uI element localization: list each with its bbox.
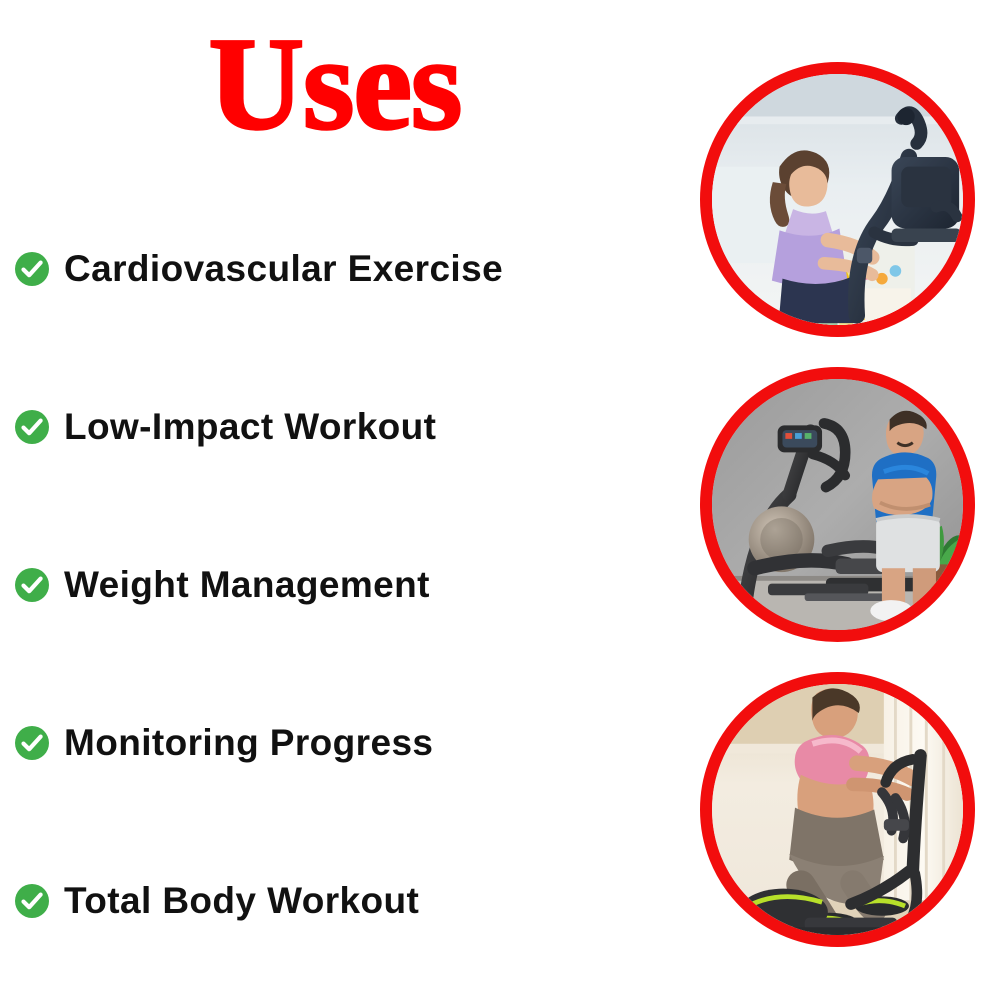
list-item-label: Low-Impact Workout xyxy=(64,407,436,448)
list-item: Low-Impact Workout xyxy=(0,348,660,506)
photo-image xyxy=(712,74,963,325)
check-circle-icon xyxy=(14,725,50,761)
check-circle-icon xyxy=(14,251,50,287)
list-item-label: Cardiovascular Exercise xyxy=(64,249,503,290)
list-item: Cardiovascular Exercise xyxy=(0,190,660,348)
check-circle-icon xyxy=(14,409,50,445)
check-circle-icon xyxy=(14,567,50,603)
uses-infographic-poster: Uses Cardiovascular Exercise Low-Impact … xyxy=(0,0,1000,1000)
list-item: Weight Management xyxy=(0,506,660,664)
list-item: Monitoring Progress xyxy=(0,664,660,822)
list-item-label: Weight Management xyxy=(64,565,430,606)
check-circle-icon xyxy=(14,883,50,919)
photo-woman-pink-bra-elliptical xyxy=(700,672,975,947)
list-item: Total Body Workout xyxy=(0,822,660,980)
list-item-label: Total Body Workout xyxy=(64,881,419,922)
photo-man-blue-tank-elliptical xyxy=(700,367,975,642)
uses-list: Cardiovascular Exercise Low-Impact Worko… xyxy=(0,190,660,980)
photo-image xyxy=(712,684,963,935)
list-item-label: Monitoring Progress xyxy=(64,723,433,764)
photo-woman-purple-tank-elliptical xyxy=(700,62,975,337)
photo-image xyxy=(712,379,963,630)
